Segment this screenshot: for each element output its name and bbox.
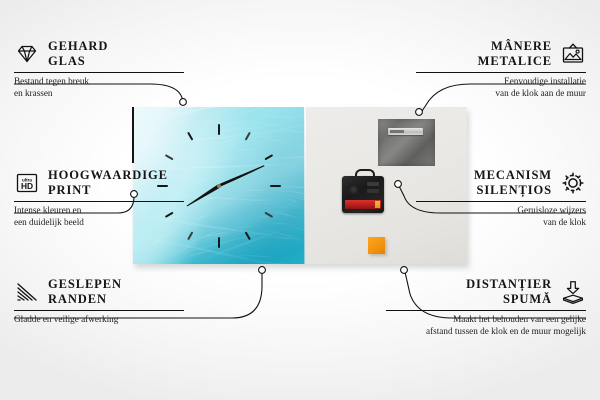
hour-tick-2 bbox=[264, 154, 273, 160]
feature-head: DISTANȚIER SPUMĂ bbox=[386, 277, 586, 306]
mechanism-slot-upper bbox=[367, 182, 379, 186]
feature-title: HOOGWAARDIGE PRINT bbox=[48, 168, 168, 197]
feature-title: DISTANȚIER SPUMĂ bbox=[466, 277, 552, 306]
feature-hoogwaardige-print: ultra HD HOOGWAARDIGE PRINT Intense kleu… bbox=[14, 168, 184, 229]
minute-hand bbox=[218, 164, 265, 187]
panel-seam bbox=[304, 107, 306, 264]
hour-tick-6 bbox=[218, 237, 220, 248]
feature-description: Bestand tegen breuk en krassen bbox=[14, 76, 184, 100]
svg-text:HD: HD bbox=[21, 181, 33, 191]
feature-head: MÂNERE METALICE bbox=[416, 39, 586, 68]
clock-mechanism bbox=[342, 169, 384, 213]
feature-description: Gladde en veilige afwerking bbox=[14, 314, 184, 326]
hour-tick-1 bbox=[245, 131, 251, 140]
hour-tick-5 bbox=[245, 231, 251, 240]
ultra-hd-icon: ultra HD bbox=[14, 170, 40, 196]
foam-spacer bbox=[368, 237, 385, 254]
battery-terminal bbox=[375, 201, 380, 208]
hour-tick-12 bbox=[218, 124, 220, 135]
feature-title: MÂNERE METALICE bbox=[478, 39, 552, 68]
hanger-bracket bbox=[388, 128, 423, 135]
mechanism-body bbox=[342, 176, 384, 213]
mechanism-shaft bbox=[348, 184, 359, 195]
second-hand bbox=[132, 107, 133, 163]
feature-rule bbox=[416, 201, 586, 202]
feature-head: GEHARD GLAS bbox=[14, 39, 184, 68]
hour-tick-10 bbox=[165, 154, 174, 160]
feature-head: GESLEPEN RANDEN bbox=[14, 277, 184, 306]
feature-rule bbox=[416, 72, 586, 73]
leader-dot-gehard-glas bbox=[180, 99, 187, 106]
spacer-pad-icon bbox=[560, 279, 586, 305]
feature-title: GEHARD GLAS bbox=[48, 39, 108, 68]
infographic-canvas: GEHARD GLAS Bestand tegen breuk en krass… bbox=[0, 0, 600, 400]
hand-center-cap bbox=[217, 184, 221, 188]
hour-tick-4 bbox=[264, 211, 273, 217]
feature-rule bbox=[386, 310, 586, 311]
feature-geslepen-randen: GESLEPEN RANDEN Gladde en veilige afwerk… bbox=[14, 277, 184, 326]
hour-tick-3 bbox=[270, 185, 281, 187]
feature-head: ultra HD HOOGWAARDIGE PRINT bbox=[14, 168, 184, 197]
bevelled-edge-icon bbox=[14, 279, 40, 305]
feature-head: MECANISM SILENȚIOS bbox=[416, 168, 586, 197]
feature-rule bbox=[14, 201, 184, 202]
feature-rule bbox=[14, 72, 184, 73]
picture-frame-icon bbox=[560, 41, 586, 67]
feature-manere-metalice: MÂNERE METALICE Eenvoudige installatie v… bbox=[416, 39, 586, 100]
hour-hand bbox=[186, 184, 220, 208]
feature-description: Intense kleuren en een duidelijk beeld bbox=[14, 205, 184, 229]
feature-gehard-glas: GEHARD GLAS Bestand tegen breuk en krass… bbox=[14, 39, 184, 100]
feature-description: Eenvoudige installatie van de klok aan d… bbox=[416, 76, 586, 100]
feature-title: MECANISM SILENȚIOS bbox=[474, 168, 552, 197]
feature-description: Geruisloze wijzers van de klok bbox=[416, 205, 586, 229]
feature-description: Maakt het behouden van een gelijke afsta… bbox=[386, 314, 586, 338]
gear-icon bbox=[560, 170, 586, 196]
diamond-icon bbox=[14, 41, 40, 67]
feature-rule bbox=[14, 310, 184, 311]
mechanism-slot-lower bbox=[367, 189, 379, 193]
hour-tick-11 bbox=[187, 131, 193, 140]
feature-title: GESLEPEN RANDEN bbox=[48, 277, 122, 306]
hour-tick-7 bbox=[187, 231, 193, 240]
feature-distantier-spuma: DISTANȚIER SPUMĂ Maakt het behouden van … bbox=[386, 277, 586, 338]
metal-hanger bbox=[378, 119, 435, 166]
feature-mecanism-silentios: MECANISM SILENȚIOS Geruisloze wijzers va… bbox=[416, 168, 586, 229]
